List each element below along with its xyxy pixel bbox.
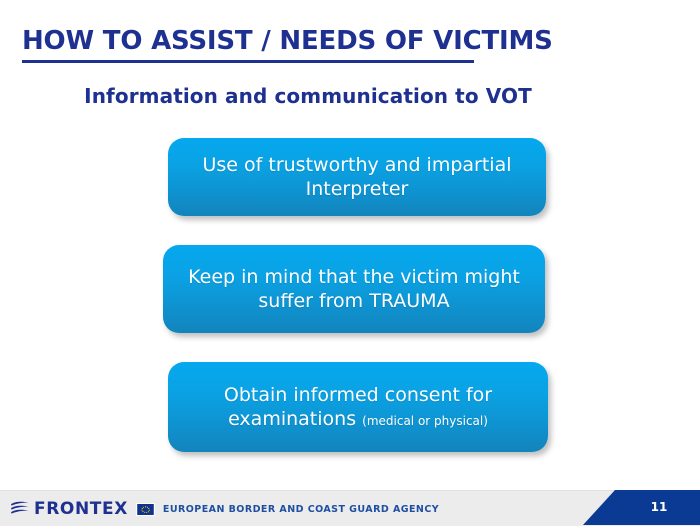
frontex-wave-icon	[10, 501, 30, 517]
page-number: 11	[649, 500, 669, 514]
content-box-3: Obtain informed consent for examinations…	[168, 362, 548, 452]
content-box-2-text: Keep in mind that the victim might suffe…	[163, 265, 545, 314]
frontex-wordmark: FRONTEX	[34, 501, 128, 518]
content-box-1-text: Use of trustworthy and impartial Interpr…	[168, 153, 546, 202]
slide-canvas: HOW TO ASSIST / NEEDS OF VICTIMS Informa…	[0, 0, 700, 525]
content-box-3-note: (medical or physical)	[362, 414, 488, 428]
page-title: HOW TO ASSIST / NEEDS OF VICTIMS	[22, 26, 553, 56]
eu-flag-icon	[136, 503, 155, 516]
agency-name: EUROPEAN BORDER AND COAST GUARD AGENCY	[163, 504, 439, 515]
slide-subtitle-text: Information and communication to VOT	[84, 84, 532, 108]
content-box-2: Keep in mind that the victim might suffe…	[163, 245, 545, 333]
content-box-1: Use of trustworthy and impartial Interpr…	[168, 138, 546, 216]
slide-subtitle: Information and communication to VOT	[0, 84, 700, 108]
content-box-3-text: Obtain informed consent for examinations…	[168, 383, 548, 432]
footer-branding: FRONTEX EUROPEAN BORDER AND COAST GUARD …	[10, 499, 439, 519]
title-underline	[22, 60, 474, 63]
